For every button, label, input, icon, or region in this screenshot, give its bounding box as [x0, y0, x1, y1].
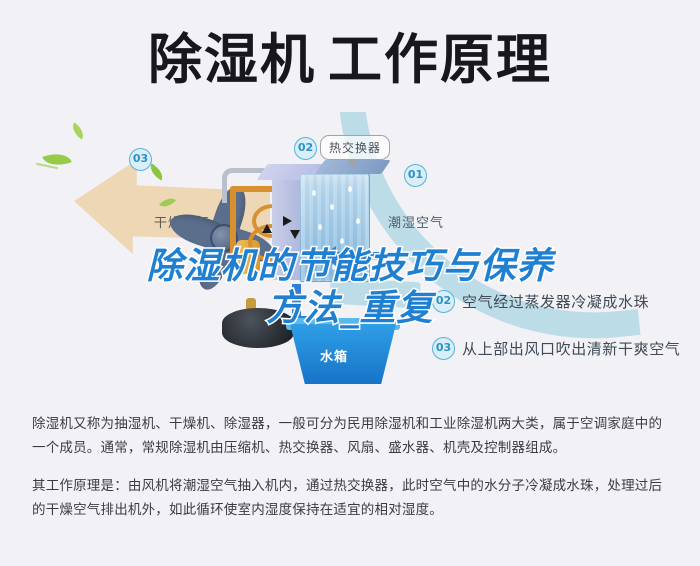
leaf-icon	[69, 122, 88, 139]
callout-badge-dry-air: 03	[129, 148, 152, 171]
water-droplet-icon	[312, 190, 316, 196]
page-title-part2: 工作原理	[328, 28, 552, 91]
page-root: 除湿机工作原理 干燥空气	[0, 0, 700, 566]
moist-air-label: 潮湿空气	[388, 212, 444, 231]
callout-badge-heat-exchanger: 02	[294, 137, 317, 160]
step-text: 从上部出风口吹出清新干爽空气	[462, 338, 680, 359]
step-badge: 03	[432, 337, 455, 360]
water-droplet-icon	[340, 238, 344, 244]
body-paragraph-2: 其工作原理是：由风机将潮湿空气抽入机内，通过热交换器，此时空气中的水分子冷凝成水…	[32, 474, 672, 522]
water-tank-label: 水箱	[320, 346, 348, 365]
watermark-overlay: 除湿机的节能技巧与保养 方法_重复	[0, 246, 700, 330]
article-body: 除湿机又称为抽湿机、干燥机、除湿器，一般可分为民用除湿机和工业除湿机两大类，属于…	[32, 412, 672, 536]
water-droplet-icon	[330, 204, 334, 210]
flow-arrow-icon	[283, 216, 292, 226]
body-paragraph-1: 除湿机又称为抽湿机、干燥机、除湿器，一般可分为民用除湿机和工业除湿机两大类，属于…	[32, 412, 672, 460]
flow-arrow-icon	[290, 230, 300, 239]
water-droplet-icon	[356, 218, 360, 224]
watermark-line-1: 除湿机的节能技巧与保养	[0, 246, 700, 288]
water-droplet-icon	[348, 186, 352, 192]
water-droplet-icon	[318, 224, 322, 230]
flow-arrow-icon	[262, 224, 272, 233]
watermark-line-2: 方法_重复	[0, 288, 700, 330]
callout-badge-moist-air: 01	[404, 164, 427, 187]
page-title: 除湿机工作原理	[0, 30, 700, 90]
list-item: 03 从上部出风口吹出清新干爽空气	[432, 337, 692, 360]
page-title-part1: 除湿机	[148, 28, 316, 91]
heat-exchanger-callout-bubble: 热交换器	[320, 135, 390, 160]
